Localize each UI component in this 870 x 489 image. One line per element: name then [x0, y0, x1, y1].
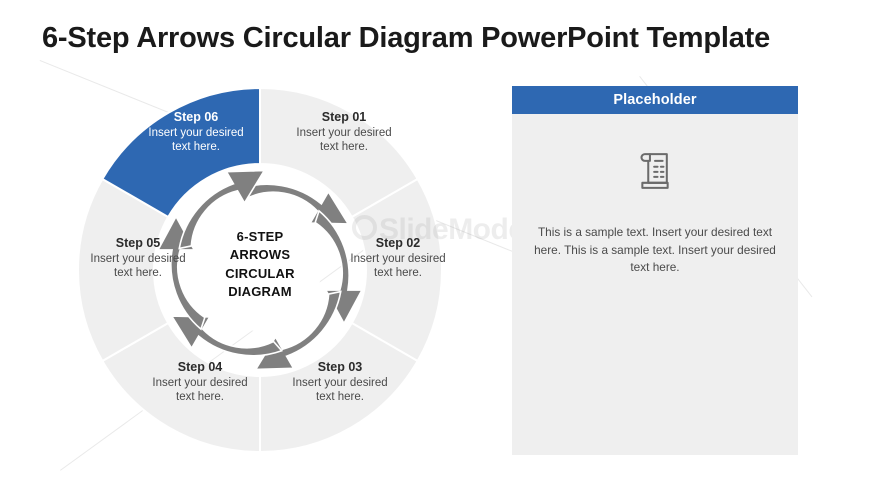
placeholder-panel-header: Placeholder	[512, 86, 798, 114]
page-title: 6-Step Arrows Circular Diagram PowerPoin…	[42, 22, 770, 55]
placeholder-panel-body: This is a sample text. Insert your desir…	[534, 224, 776, 277]
circular-diagram: Step 01 Insert your desired text here. S…	[78, 88, 442, 452]
scroll-document-icon	[628, 144, 682, 198]
placeholder-panel: Placeholder This is a sample text. Inser…	[512, 86, 798, 455]
circular-diagram-svg	[78, 88, 442, 452]
diagram-hub	[199, 209, 321, 331]
